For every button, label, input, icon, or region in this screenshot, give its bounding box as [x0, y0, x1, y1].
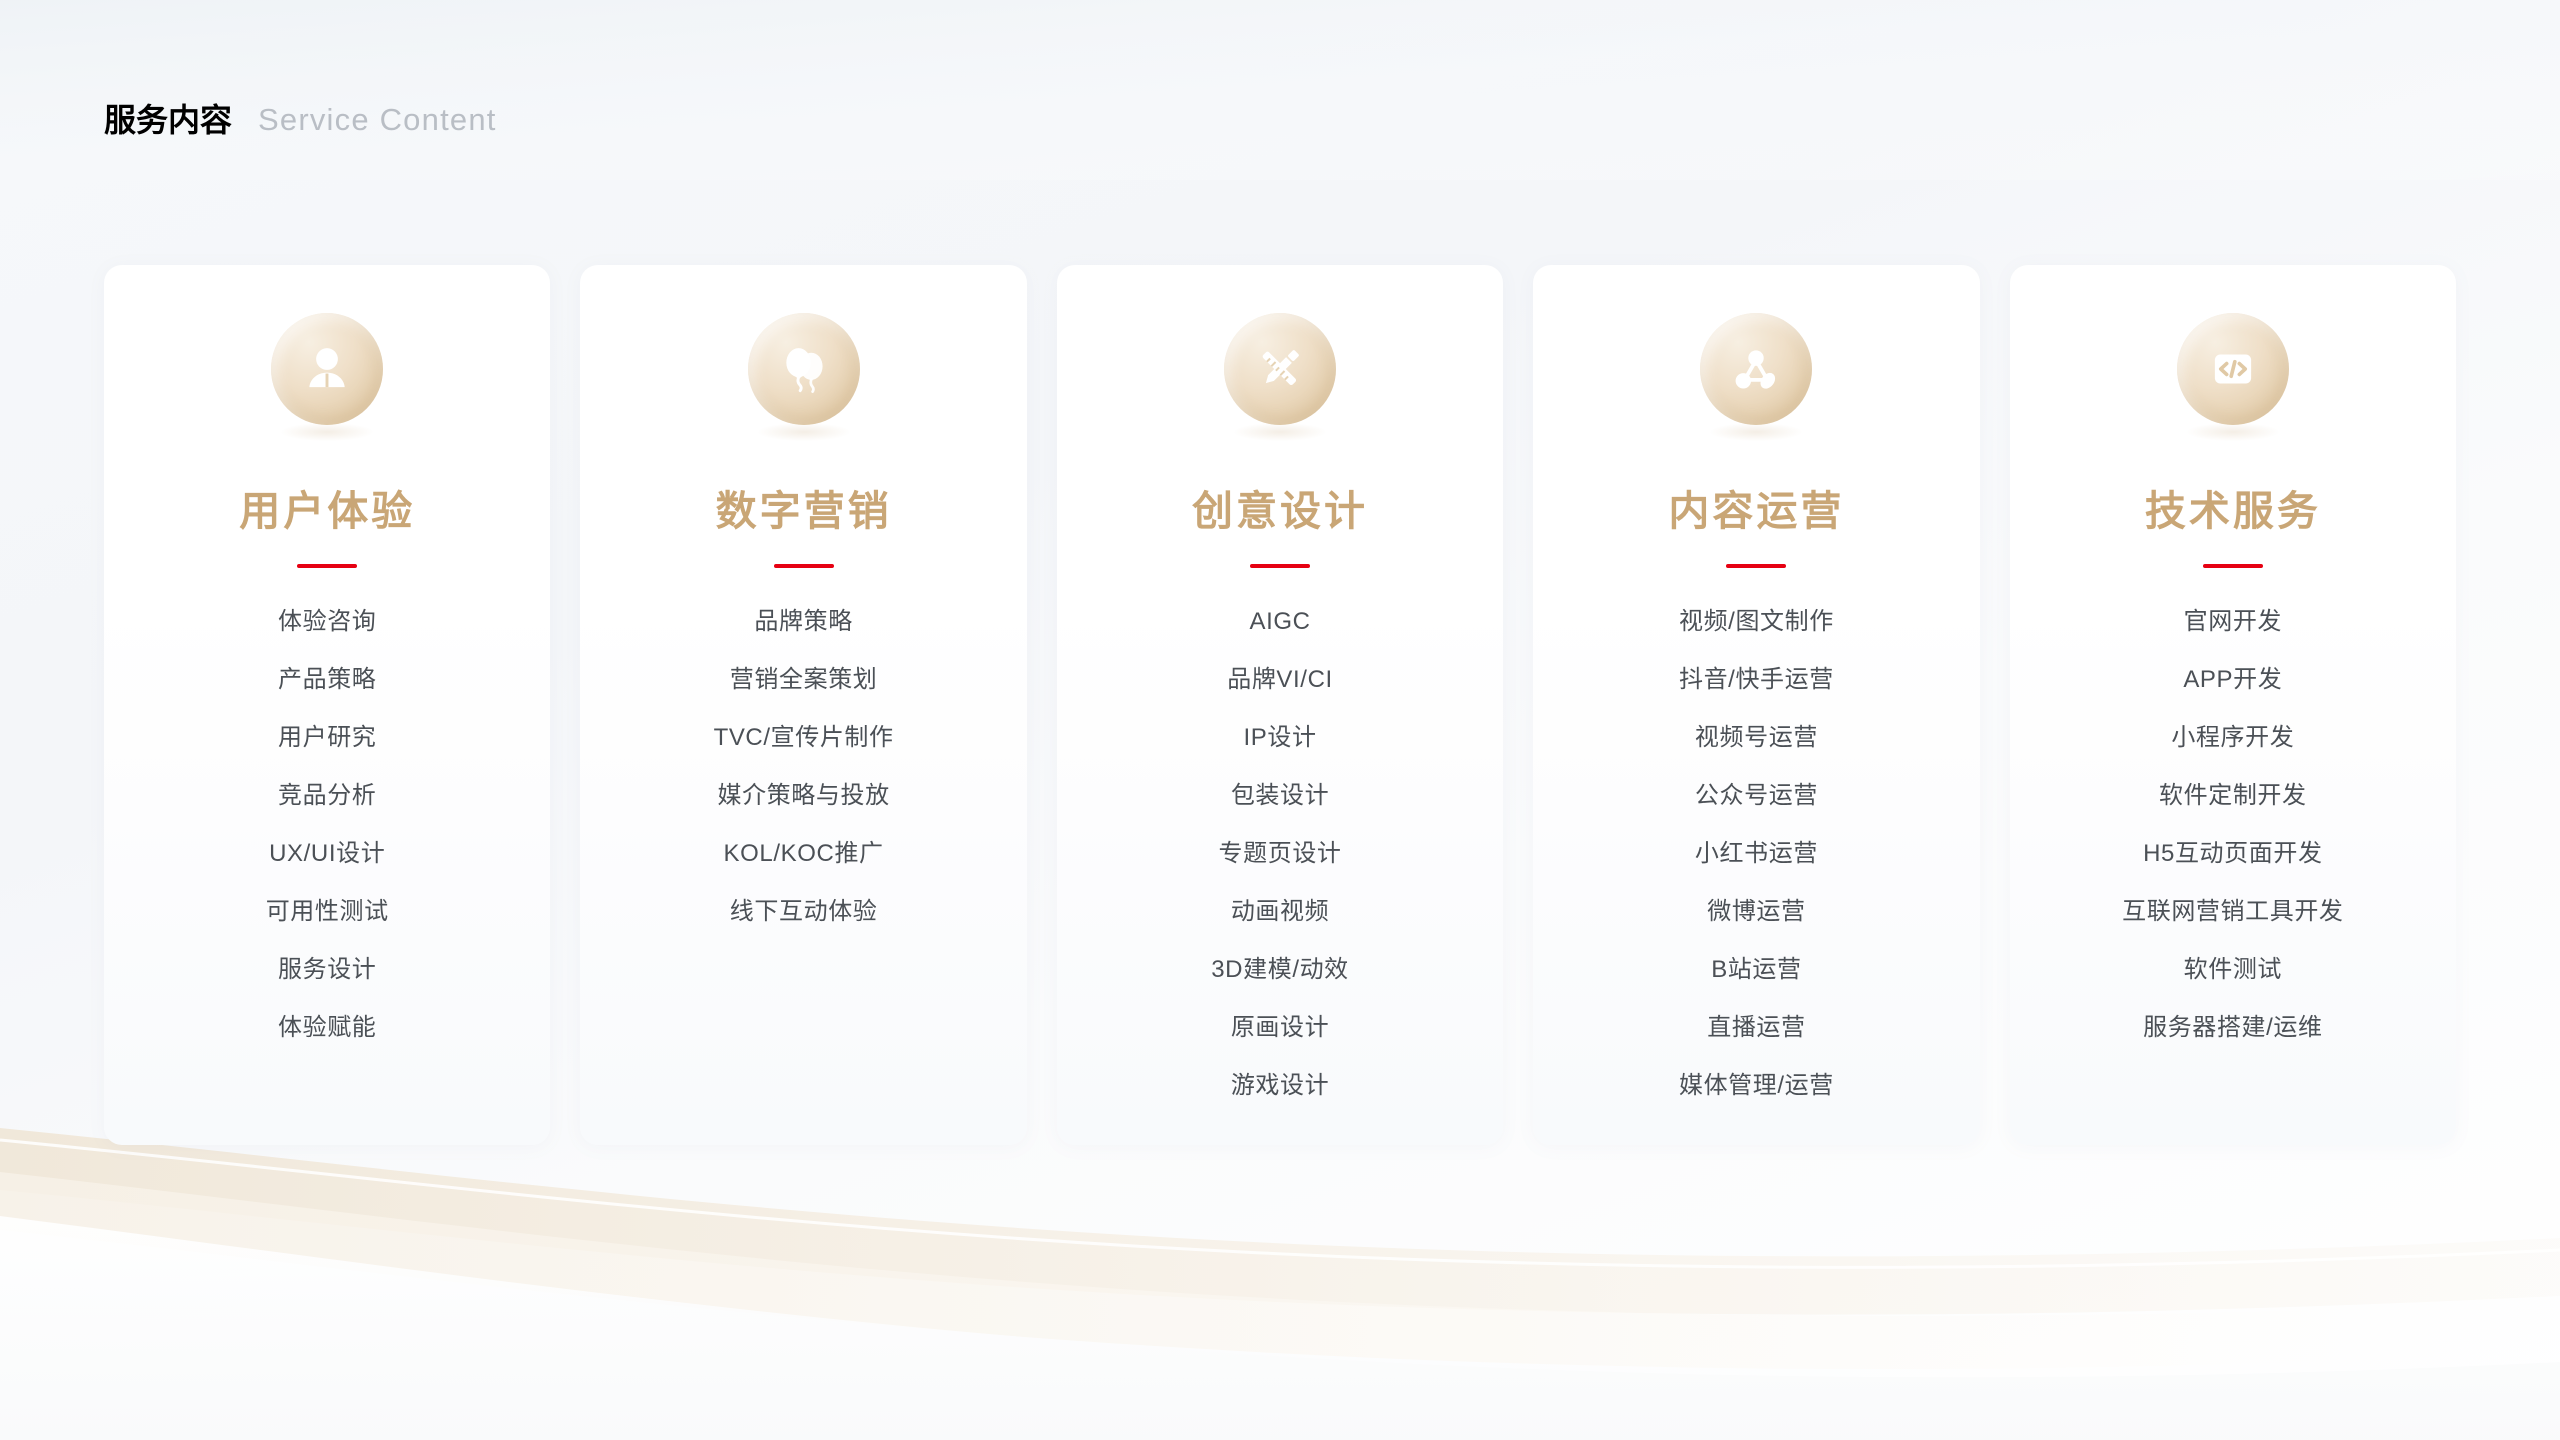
- list-item[interactable]: 原画设计: [1057, 1016, 1503, 1040]
- list-item[interactable]: 营销全案策划: [580, 668, 1026, 692]
- page-header: 服务内容 Service Content: [104, 95, 497, 141]
- service-card-user-experience[interactable]: 用户体验 体验咨询 产品策略 用户研究 竞品分析 UX/UI设计 可用性测试 服…: [104, 265, 550, 1145]
- title-divider: [2203, 564, 2263, 568]
- list-item[interactable]: 体验咨询: [104, 610, 550, 634]
- list-item[interactable]: 媒介策略与投放: [580, 784, 1026, 808]
- card-title: 技术服务: [2145, 491, 2321, 532]
- list-item[interactable]: 互联网营销工具开发: [2010, 900, 2456, 924]
- list-item[interactable]: 可用性测试: [104, 900, 550, 924]
- list-item[interactable]: 公众号运营: [1533, 784, 1979, 808]
- icon-container: [2177, 313, 2289, 425]
- list-item[interactable]: B站运营: [1533, 958, 1979, 982]
- list-item[interactable]: IP设计: [1057, 726, 1503, 750]
- user-person-icon: [271, 313, 383, 425]
- list-item[interactable]: 体验赋能: [104, 1016, 550, 1040]
- service-cards-row: 用户体验 体验咨询 产品策略 用户研究 竞品分析 UX/UI设计 可用性测试 服…: [104, 265, 2456, 1145]
- list-item[interactable]: H5互动页面开发: [2010, 842, 2456, 866]
- list-item[interactable]: AIGC: [1057, 610, 1503, 634]
- card-title: 创意设计: [1192, 491, 1368, 532]
- code-brackets-icon: [2177, 313, 2289, 425]
- list-item[interactable]: 小红书运营: [1533, 842, 1979, 866]
- page-title: 服务内容: [104, 95, 232, 141]
- list-item[interactable]: 微博运营: [1533, 900, 1979, 924]
- list-item[interactable]: 抖音/快手运营: [1533, 668, 1979, 692]
- icon-container: [271, 313, 383, 425]
- list-item[interactable]: KOL/KOC推广: [580, 842, 1026, 866]
- list-item[interactable]: 官网开发: [2010, 610, 2456, 634]
- service-item-list: 体验咨询 产品策略 用户研究 竞品分析 UX/UI设计 可用性测试 服务设计 体…: [104, 610, 550, 1040]
- list-item[interactable]: 包装设计: [1057, 784, 1503, 808]
- service-item-list: 官网开发 APP开发 小程序开发 软件定制开发 H5互动页面开发 互联网营销工具…: [2010, 610, 2456, 1040]
- list-item[interactable]: 动画视频: [1057, 900, 1503, 924]
- title-divider: [1250, 564, 1310, 568]
- list-item[interactable]: 软件定制开发: [2010, 784, 2456, 808]
- list-item[interactable]: 视频/图文制作: [1533, 610, 1979, 634]
- list-item[interactable]: 品牌VI/CI: [1057, 668, 1503, 692]
- list-item[interactable]: 服务设计: [104, 958, 550, 982]
- list-item[interactable]: 产品策略: [104, 668, 550, 692]
- icon-container: [1700, 313, 1812, 425]
- title-divider: [297, 564, 357, 568]
- share-network-icon: [1700, 313, 1812, 425]
- icon-container: [1224, 313, 1336, 425]
- service-card-content-operations[interactable]: 内容运营 视频/图文制作 抖音/快手运营 视频号运营 公众号运营 小红书运营 微…: [1533, 265, 1979, 1145]
- card-title: 数字营销: [716, 491, 892, 532]
- page-subtitle: Service Content: [258, 104, 497, 135]
- list-item[interactable]: 服务器搭建/运维: [2010, 1016, 2456, 1040]
- service-card-technical-services[interactable]: 技术服务 官网开发 APP开发 小程序开发 软件定制开发 H5互动页面开发 互联…: [2010, 265, 2456, 1145]
- list-item[interactable]: 用户研究: [104, 726, 550, 750]
- icon-container: [748, 313, 860, 425]
- card-title: 用户体验: [239, 491, 415, 532]
- pencil-ruler-icon: [1224, 313, 1336, 425]
- list-item[interactable]: 线下互动体验: [580, 900, 1026, 924]
- service-card-digital-marketing[interactable]: 数字营销 品牌策略 营销全案策划 TVC/宣传片制作 媒介策略与投放 KOL/K…: [580, 265, 1026, 1145]
- list-item[interactable]: 小程序开发: [2010, 726, 2456, 750]
- list-item[interactable]: UX/UI设计: [104, 842, 550, 866]
- service-card-creative-design[interactable]: 创意设计 AIGC 品牌VI/CI IP设计 包装设计 专题页设计 动画视频 3…: [1057, 265, 1503, 1145]
- service-item-list: AIGC 品牌VI/CI IP设计 包装设计 专题页设计 动画视频 3D建模/动…: [1057, 610, 1503, 1098]
- list-item[interactable]: 品牌策略: [580, 610, 1026, 634]
- list-item[interactable]: TVC/宣传片制作: [580, 726, 1026, 750]
- list-item[interactable]: 专题页设计: [1057, 842, 1503, 866]
- list-item[interactable]: 游戏设计: [1057, 1074, 1503, 1098]
- title-divider: [774, 564, 834, 568]
- card-title: 内容运营: [1668, 491, 1844, 532]
- list-item[interactable]: 媒体管理/运营: [1533, 1074, 1979, 1098]
- list-item[interactable]: 视频号运营: [1533, 726, 1979, 750]
- balloons-icon: [748, 313, 860, 425]
- list-item[interactable]: 直播运营: [1533, 1016, 1979, 1040]
- list-item[interactable]: 软件测试: [2010, 958, 2456, 982]
- list-item[interactable]: 竞品分析: [104, 784, 550, 808]
- title-divider: [1726, 564, 1786, 568]
- service-item-list: 品牌策略 营销全案策划 TVC/宣传片制作 媒介策略与投放 KOL/KOC推广 …: [580, 610, 1026, 924]
- list-item[interactable]: APP开发: [2010, 668, 2456, 692]
- service-item-list: 视频/图文制作 抖音/快手运营 视频号运营 公众号运营 小红书运营 微博运营 B…: [1533, 610, 1979, 1098]
- list-item[interactable]: 3D建模/动效: [1057, 958, 1503, 982]
